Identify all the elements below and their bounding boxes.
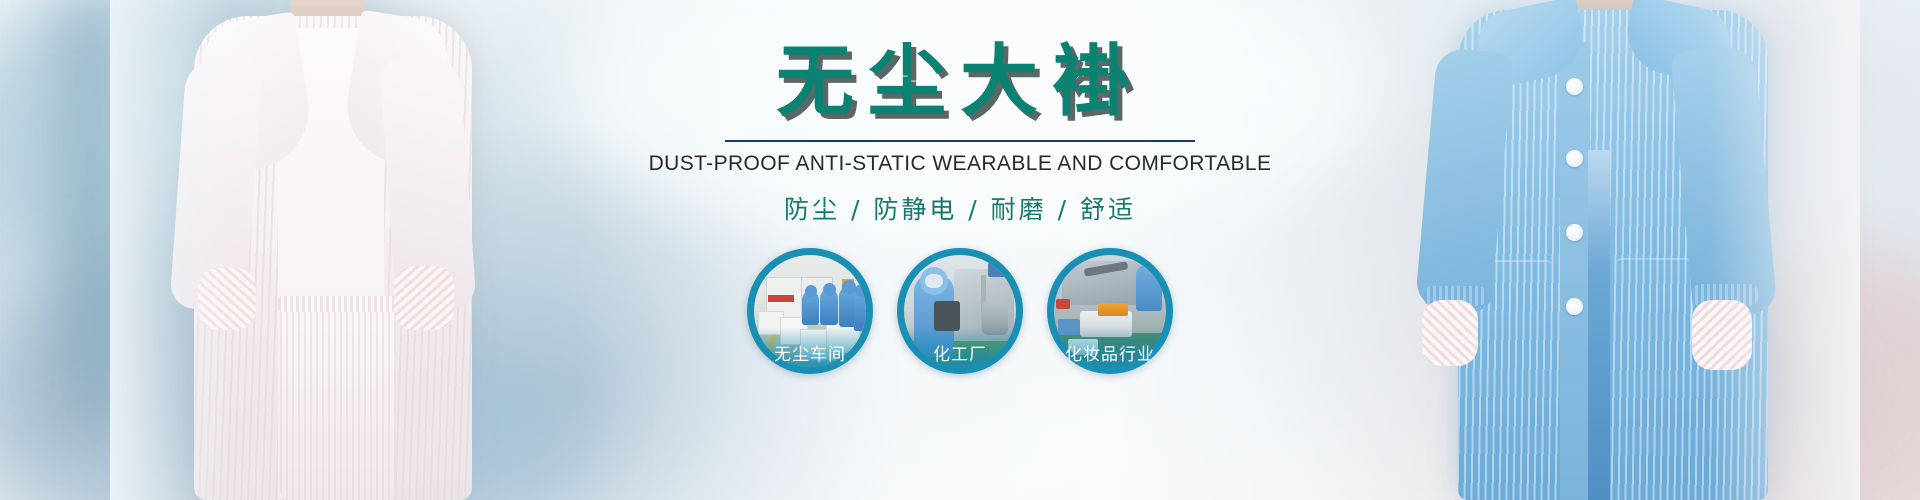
industry-badge-row: 无尘车间 化工厂: [480, 248, 1440, 374]
title-divider: [725, 140, 1195, 142]
banner-center-content: 无尘大褂 DUST-PROOF ANTI-STATIC WEARABLE AND…: [480, 0, 1440, 500]
model-right-blue-coat: [1420, 0, 1800, 500]
coat-button: [1566, 298, 1583, 315]
esd-trousers: [280, 300, 396, 500]
coat-button-placket: [1560, 42, 1590, 500]
industry-badge-label: 无尘车间: [747, 340, 873, 365]
product-banner: 无尘大褂 DUST-PROOF ANTI-STATIC WEARABLE AND…: [0, 0, 1920, 500]
photo-red-marker: [1056, 299, 1070, 309]
industry-badge-label: 化工厂: [897, 340, 1023, 365]
industry-badge-chemical-plant[interactable]: 化工厂: [897, 248, 1023, 374]
photo-screen: [988, 263, 1010, 277]
industry-badge-cosmetics[interactable]: 化妆品行业: [1047, 248, 1173, 374]
model-edge-fade: [110, 0, 230, 500]
photo-wall-sign: [768, 295, 794, 302]
industry-badge-label: 化妆品行业: [1047, 340, 1173, 365]
photo-yellow-tray: [1098, 303, 1128, 316]
model-edge-fade: [1710, 0, 1860, 500]
coat-open-gap: [1588, 150, 1610, 500]
photo-worker: [1136, 265, 1162, 311]
coat-button: [1566, 150, 1583, 167]
trouser-waistband: [278, 296, 398, 312]
photo-worker: [854, 291, 866, 331]
coat-pocket-right: [1616, 258, 1692, 346]
photo-worker-face: [925, 274, 943, 288]
banner-subtitle-english: DUST-PROOF ANTI-STATIC WEARABLE AND COMF…: [480, 152, 1440, 176]
coat-button: [1566, 78, 1583, 95]
photo-worker-head: [855, 284, 866, 297]
industry-badge-cleanroom[interactable]: 无尘车间: [747, 248, 873, 374]
coat-button: [1566, 224, 1583, 241]
model-left-white-coat: [150, 0, 490, 500]
esd-glove-right: [394, 266, 454, 330]
banner-feature-list: 防尘 / 防静电 / 耐磨 / 舒适: [480, 190, 1440, 226]
banner-title: 无尘大褂: [480, 0, 1440, 124]
